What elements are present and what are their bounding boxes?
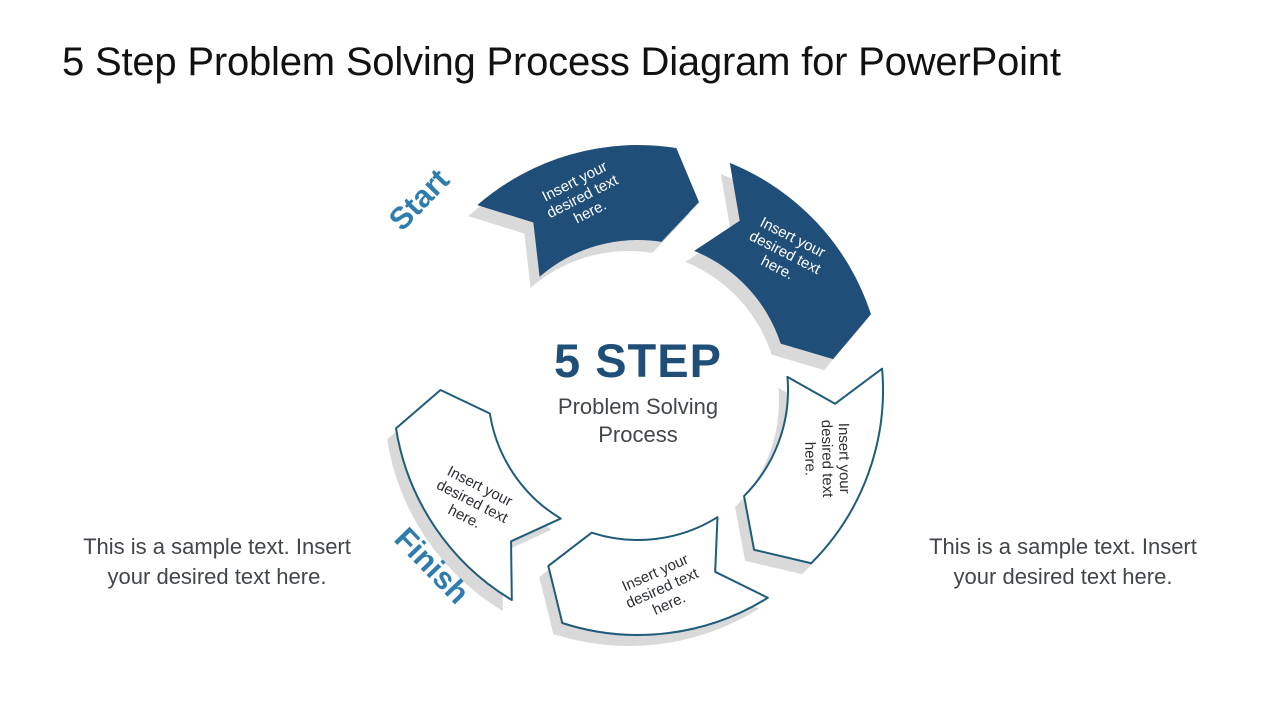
step-caption-3-line-2: desired text bbox=[818, 420, 836, 499]
side-text-left: This is a sample text. Insert your desir… bbox=[72, 532, 362, 592]
process-ring-svg: Insert yourdesired texthere.Insert yourd… bbox=[0, 0, 1280, 720]
ring-segment-layer bbox=[396, 145, 883, 635]
side-text-right: This is a sample text. Insert your desir… bbox=[918, 532, 1208, 592]
slide-canvas: 5 Step Problem Solving Process Diagram f… bbox=[0, 0, 1280, 720]
step-caption-3-line-1: Insert your bbox=[835, 423, 853, 494]
step-caption-3-line-3: here. bbox=[801, 442, 819, 476]
process-diagram: Insert yourdesired texthere.Insert yourd… bbox=[0, 0, 1280, 720]
